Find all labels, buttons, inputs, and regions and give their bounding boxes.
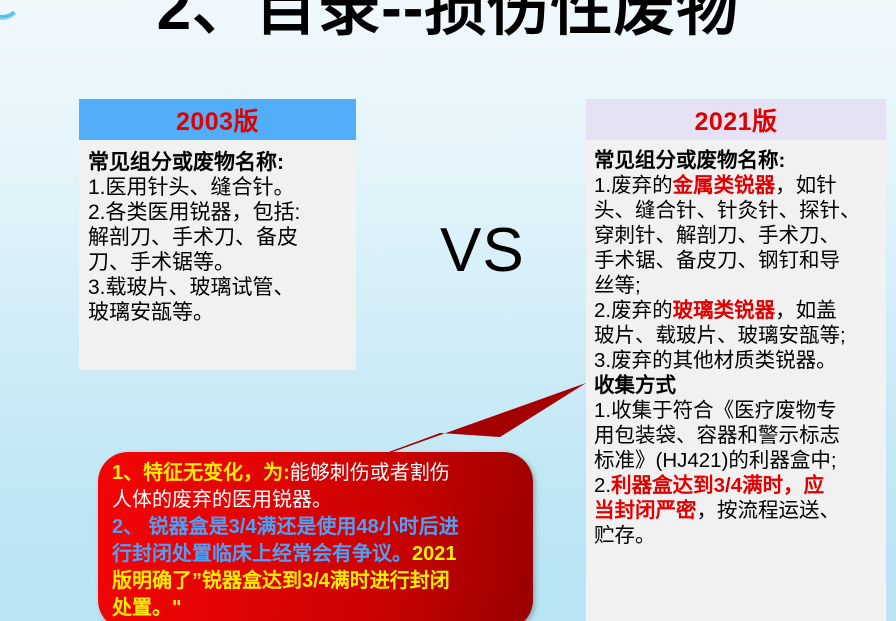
panel-2003: 2003版 常见组分或废物名称:1.医用针头、缝合针。2.各类医用锐器，包括:解… xyxy=(79,99,356,370)
panel-2003-line: 3.载玻片、玻璃试管、 xyxy=(88,275,347,300)
panel-2021-line-span: 1.废弃的 xyxy=(594,174,673,197)
panel-2021-line: 常见组分或废物名称: xyxy=(594,148,880,173)
panel-2021-line-span: 收集方式 xyxy=(594,374,676,397)
panel-2021-line: 当封闭严密，按流程运送、 xyxy=(594,498,880,523)
callout-line: 人体的废弃的医用锐器。 xyxy=(112,487,521,514)
slide-canvas: 2、目录--损伤性废物 2003版 常见组分或废物名称:1.医用针头、缝合针。2… xyxy=(0,0,896,621)
panel-2021-line: 玻片、载玻片、玻璃安瓿等; xyxy=(594,323,880,348)
callout-line-span: 能够刺伤或者割伤 xyxy=(290,462,450,484)
panel-2021: 2021版 常见组分或废物名称:1.废弃的金属类锐器，如针头、缝合针、针灸针、探… xyxy=(586,99,886,621)
panel-2003-line: 常见组分或废物名称: xyxy=(88,150,347,175)
callout-line-span: 版明确了”锐器盒达到3/4满时进行封闭 xyxy=(112,570,450,592)
callout-line-span: 处置。" xyxy=(112,597,181,619)
panel-2021-line-span: 玻璃类锐器 xyxy=(673,299,776,322)
panel-2021-line: 用包装袋、容器和警示标志 xyxy=(594,423,880,448)
panel-2021-line: 手术锯、备皮刀、钢钉和导 xyxy=(594,248,880,273)
panel-2003-line: 解剖刀、手术刀、备皮 xyxy=(88,225,347,250)
panel-2021-line-span: 利器盒达到3/4满时，应 xyxy=(611,474,824,497)
page-title: 2、目录--损伤性废物 xyxy=(0,0,896,40)
panel-2021-line-span: 当封闭严密 xyxy=(594,499,697,522)
panel-2021-line: 贮存。 xyxy=(594,523,880,548)
panel-2021-line: 2.废弃的玻璃类锐器，如盖 xyxy=(594,298,880,323)
callout-line-span: 人体的废弃的医用锐器。 xyxy=(112,489,332,511)
callout-line: 行封闭处置临床上经常会有争议。2021 xyxy=(112,541,521,568)
panel-2021-line-span: 丝等; xyxy=(594,274,641,297)
panel-2021-line: 丝等; xyxy=(594,273,880,298)
callout-line-span: 特征无变化 xyxy=(143,462,243,484)
callout-line-span: 行封闭处置临床上经常会有争议。 xyxy=(112,543,412,565)
vs-label: VS xyxy=(440,215,525,286)
callout-line-span: 1、 xyxy=(112,462,143,484)
panel-2021-line: 收集方式 xyxy=(594,373,880,398)
panel-2021-line-span: 1.收集于符合《医疗废物专 xyxy=(594,399,837,422)
panel-2021-line: 头、缝合针、针灸针、探针、 xyxy=(594,198,880,223)
panel-2021-header: 2021版 xyxy=(586,99,886,140)
callout-line-span: 2、 锐器盒是3/4满还是使用48小时后进 xyxy=(112,516,459,538)
panel-2021-line-span: 玻片、载玻片、玻璃安瓿等; xyxy=(594,324,846,347)
panel-2021-line: 1.废弃的金属类锐器，如针 xyxy=(594,173,880,198)
callout-line: 版明确了”锐器盒达到3/4满时进行封闭 xyxy=(112,568,521,595)
panel-2021-line-span: ，如盖 xyxy=(775,299,837,322)
callout-line-span: 2021 xyxy=(412,543,457,565)
panel-2021-line: 3.废弃的其他材质类锐器。 xyxy=(594,348,880,373)
panel-2003-header: 2003版 xyxy=(79,99,356,140)
panel-2003-line: 2.各类医用锐器，包括: xyxy=(88,200,347,225)
panel-2021-line-span: ，按流程运送、 xyxy=(697,499,841,522)
commentary-callout: 1、特征无变化，为:能够刺伤或者割伤人体的废弃的医用锐器。2、 锐器盒是3/4满… xyxy=(98,452,533,621)
panel-2021-line-span: 2.废弃的 xyxy=(594,299,673,322)
callout-line: 1、特征无变化，为:能够刺伤或者割伤 xyxy=(112,460,521,487)
panel-2021-line: 2.利器盒达到3/4满时，应 xyxy=(594,473,880,498)
panel-2021-line-span: 2. xyxy=(594,474,611,497)
panel-2021-line: 标准》(HJ421)的利器盒中; xyxy=(594,448,880,473)
panel-2021-line-span: 头、缝合针、针灸针、探针、 xyxy=(594,199,861,222)
panel-2021-line-span: 穿刺针、解剖刀、手术刀、 xyxy=(594,224,840,247)
callout-line: 处置。" xyxy=(112,595,521,621)
panel-2003-body: 常见组分或废物名称:1.医用针头、缝合针。2.各类医用锐器，包括:解剖刀、手术刀… xyxy=(79,140,356,370)
panel-2003-line: 刀、手术锯等。 xyxy=(88,250,347,275)
panel-2021-body: 常见组分或废物名称:1.废弃的金属类锐器，如针头、缝合针、针灸针、探针、穿刺针、… xyxy=(586,140,886,621)
panel-2021-line-span: 用包装袋、容器和警示标志 xyxy=(594,424,840,447)
panel-2021-header-label: 2021版 xyxy=(694,102,777,138)
panel-2021-line-span: 手术锯、备皮刀、钢钉和导 xyxy=(594,249,840,272)
panel-2021-line-span: 金属类锐器 xyxy=(673,174,776,197)
panel-2021-line-span: 标准》(HJ421)的利器盒中; xyxy=(594,449,837,472)
panel-2021-line: 1.收集于符合《医疗废物专 xyxy=(594,398,880,423)
panel-2003-header-label: 2003版 xyxy=(176,102,259,138)
panel-2021-line-span: 贮存。 xyxy=(594,524,656,547)
panel-2021-line-span: 常见组分或废物名称: xyxy=(594,149,785,172)
callout-line: 2、 锐器盒是3/4满还是使用48小时后进 xyxy=(112,514,521,541)
panel-2021-line: 穿刺针、解剖刀、手术刀、 xyxy=(594,223,880,248)
panel-2021-line-span: 3.废弃的其他材质类锐器。 xyxy=(594,349,837,372)
callout-line-span: ，为: xyxy=(243,462,290,484)
panel-2021-line-span: ，如针 xyxy=(775,174,837,197)
panel-2003-line: 1.医用针头、缝合针。 xyxy=(88,175,347,200)
panel-2003-line: 玻璃安瓿等。 xyxy=(88,300,347,325)
